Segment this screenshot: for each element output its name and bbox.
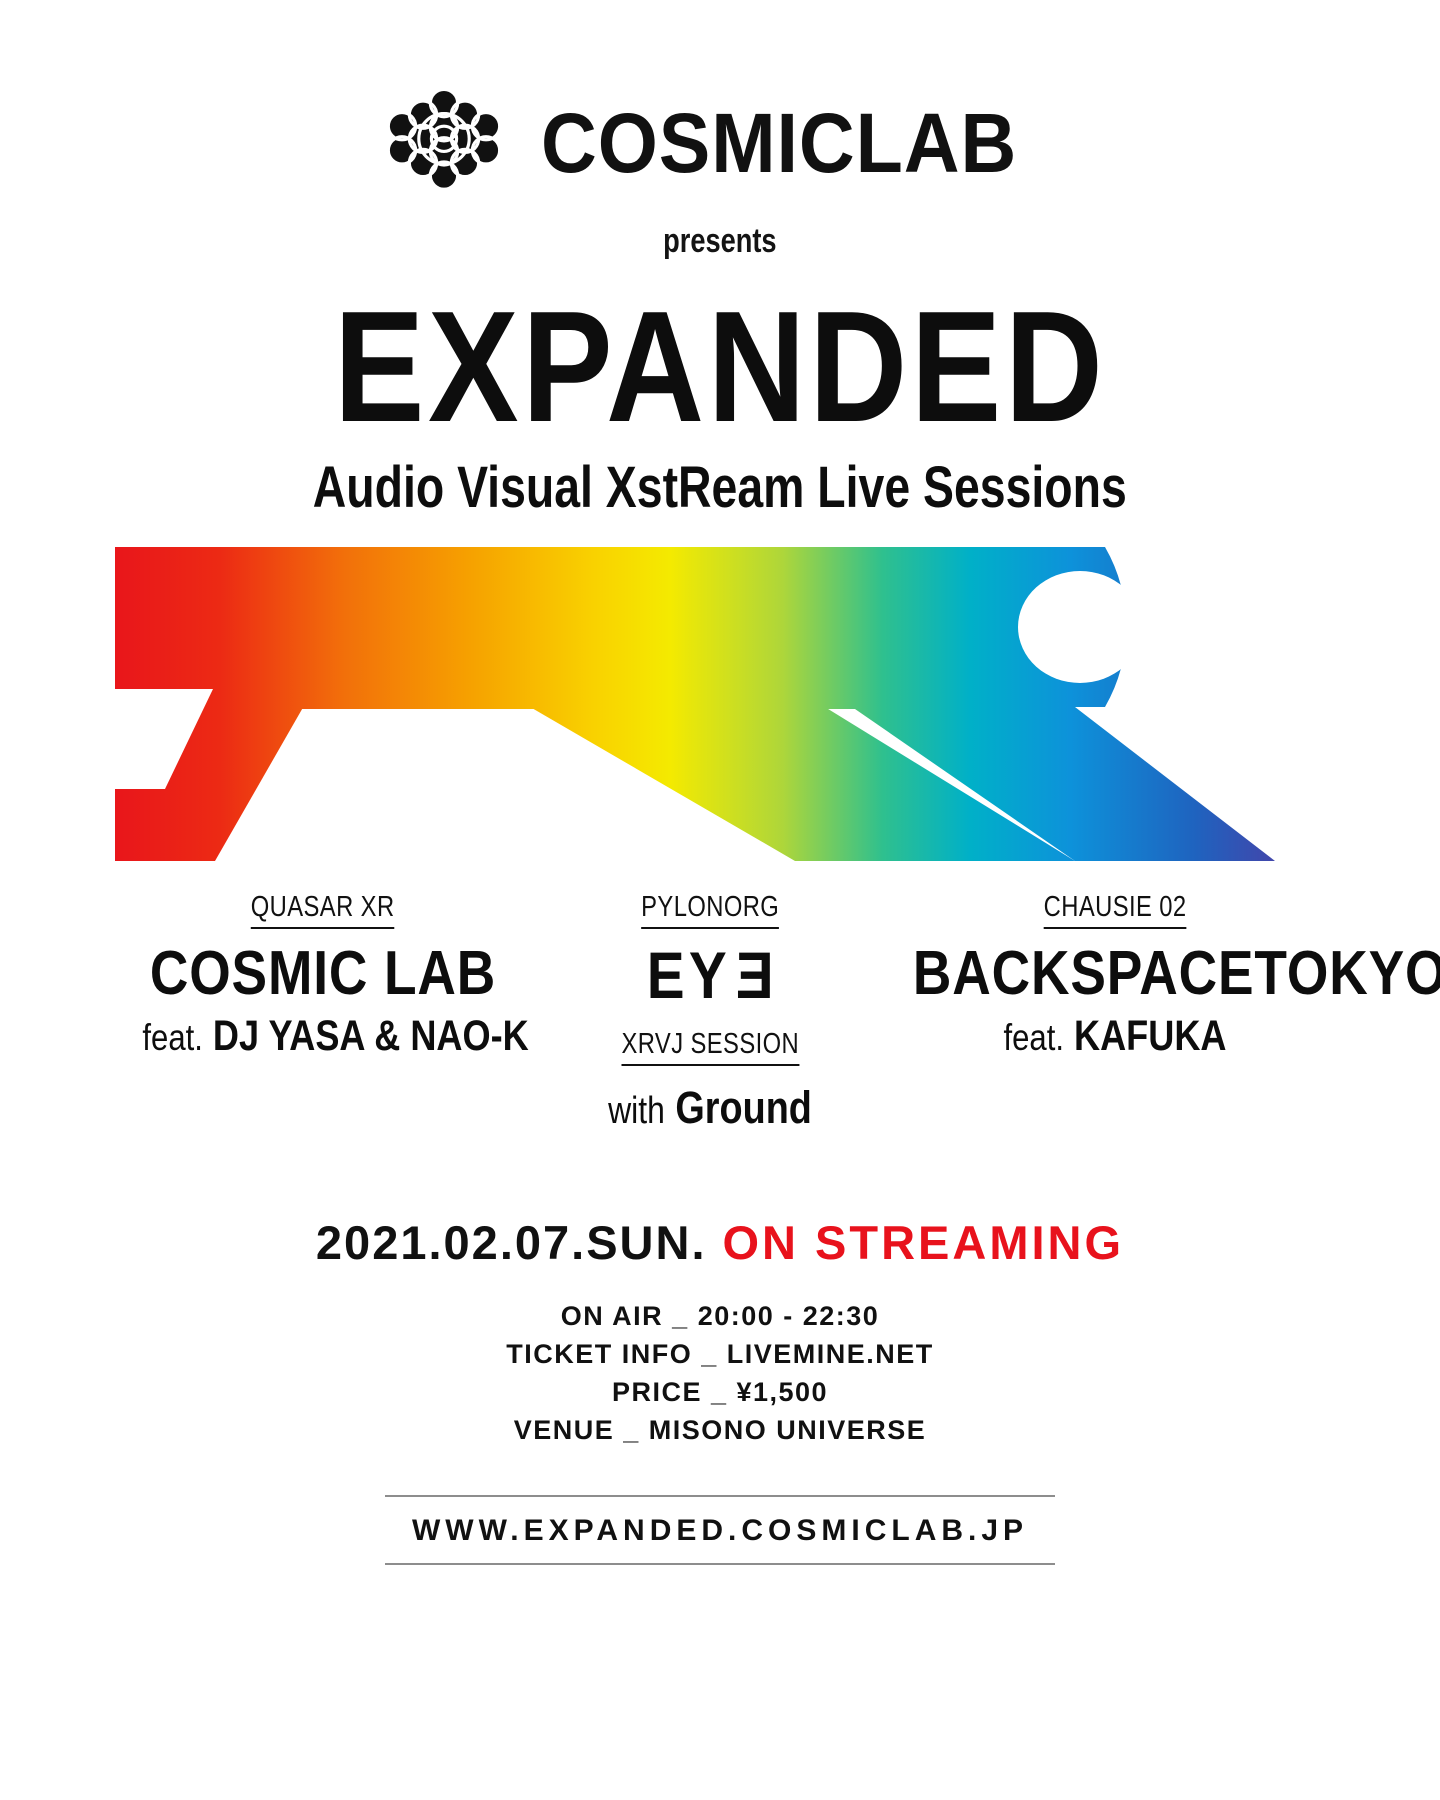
page-subtitle: Audio Visual XstReam Live Sessions [313,454,1127,521]
cosmiclab-mandala-icon [381,80,507,206]
feat-prefix: feat. [1003,1017,1063,1058]
artist-name: EYE [555,941,865,1010]
xr-artwork-svg [95,539,1345,869]
info-line-venue: VENUE _ MISONO UNIVERSE [506,1415,934,1446]
info-line-price: PRICE _ ¥1,500 [506,1377,934,1408]
event-date: 2021.02.07.SUN. [316,1216,707,1269]
xr-gradient-graphic [95,539,1345,869]
event-dateline: 2021.02.07.SUN.ON STREAMING [316,1215,1124,1270]
poster-root: COSMICLAB presents EXPANDED Audio Visual… [0,0,1440,1800]
artist-feat: feat. DJ YASA & NAO-K [142,1012,503,1061]
feat-prefix: feat. [142,1017,202,1058]
artist-column-quasar-xr: QUASAR XR COSMIC LAB feat. DJ YASA & NAO… [108,891,538,1061]
streaming-badge: ON STREAMING [723,1216,1125,1269]
artist-tag: PYLONORG [641,891,779,929]
website-url[interactable]: WWW.EXPANDED.COSMICLAB.JP [385,1497,1055,1563]
session-name: Ground [675,1082,811,1133]
event-info-block: ON AIR _ 20:00 - 22:30 TICKET INFO _ LIV… [506,1294,934,1453]
artist-lineup: QUASAR XR COSMIC LAB feat. DJ YASA & NAO… [90,885,1350,1195]
info-line-ticket: TICKET INFO _ LIVEMINE.NET [506,1339,934,1370]
page-title: EXPANDED [334,287,1106,448]
session-prefix: with [608,1090,665,1132]
presents-label: presents [663,222,776,261]
divider-bottom [385,1563,1055,1565]
session-tag: XRVJ SESSION [621,1028,799,1066]
artist-name-part1: EY [647,938,731,1012]
session-artist: with Ground [559,1082,861,1134]
artist-feat: feat. KAFUKA [918,1012,1313,1061]
artist-name: BACKSPACETOKYO [913,941,1317,1006]
feat-name: KAFUKA [1074,1012,1226,1060]
artist-name-part2-mirrored: E [731,941,773,1010]
artist-column-pylonorg: PYLONORG EYE XRVJ SESSION with Ground [530,891,890,1134]
brand-wordmark: COSMICLAB [541,101,1017,185]
feat-name: DJ YASA & NAO-K [213,1012,529,1060]
artist-name: COSMIC LAB [138,941,508,1006]
artist-tag: QUASAR XR [251,891,395,929]
artist-column-chausie-02: CHAUSIE 02 BACKSPACETOKYO feat. KAFUKA [880,891,1350,1061]
artist-tag: CHAUSIE 02 [1044,891,1187,929]
brand-header: COSMICLAB [381,78,1059,208]
info-line-on-air: ON AIR _ 20:00 - 22:30 [506,1301,934,1332]
footer-url-block: WWW.EXPANDED.COSMICLAB.JP [385,1495,1055,1565]
